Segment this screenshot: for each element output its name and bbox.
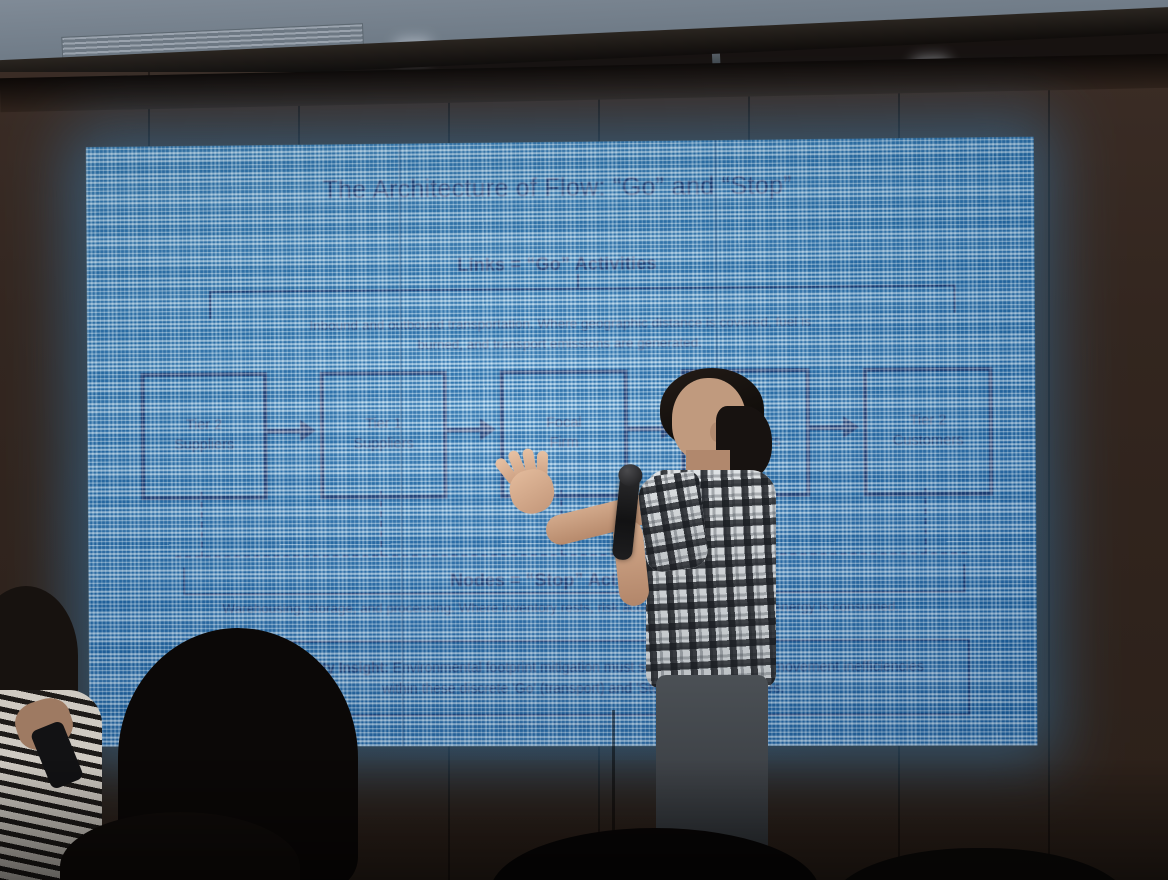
presenter-sleeve: [636, 471, 709, 574]
conference-room-scene: The Architecture of Flow: “Go” and “Stop…: [0, 0, 1168, 880]
foreground-shadow: [0, 760, 1168, 880]
